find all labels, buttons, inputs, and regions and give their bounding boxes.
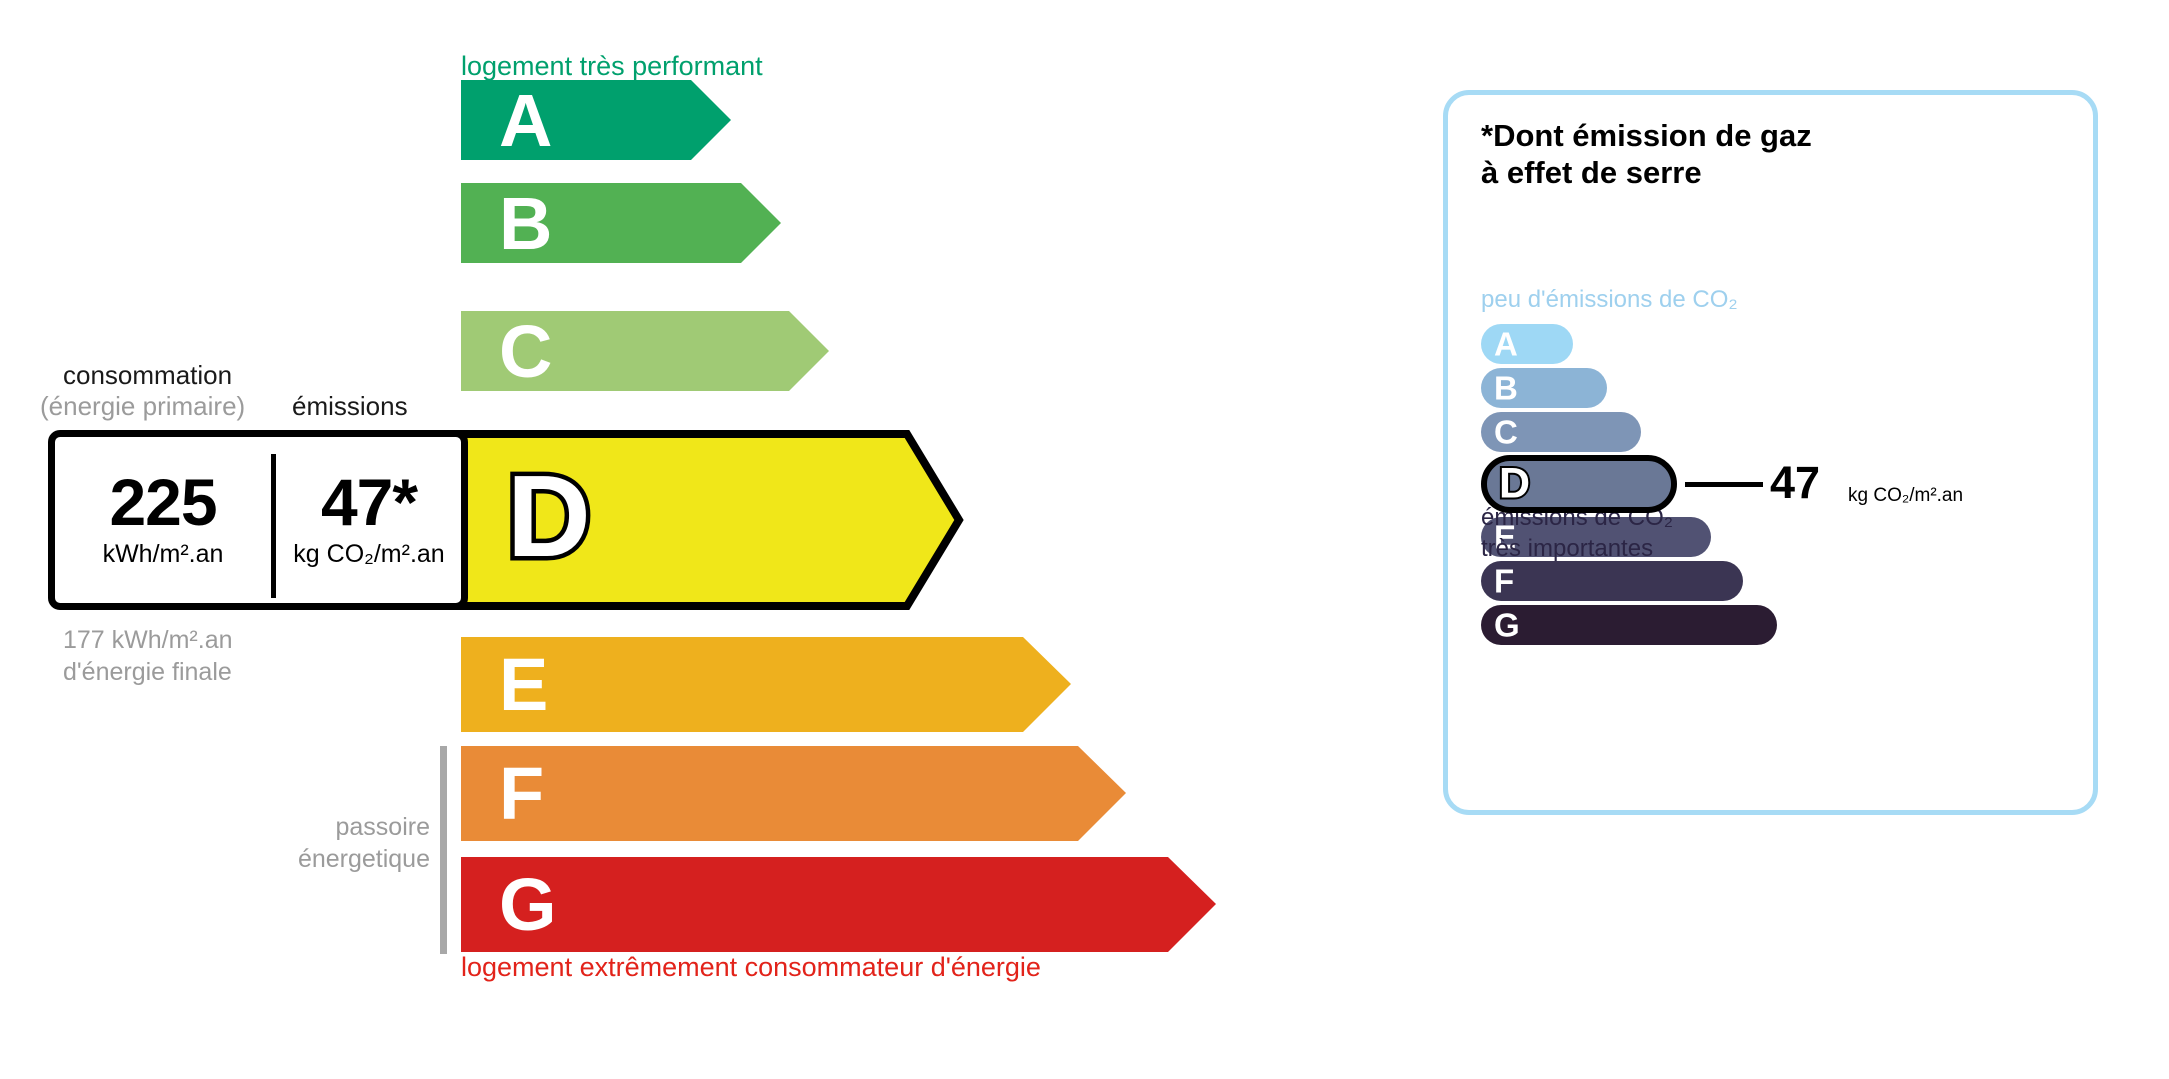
passoire-line-2: énergetique	[180, 843, 430, 875]
co2-bar-b: B	[1481, 368, 1607, 408]
co2-bar-b-letter: B	[1494, 372, 1518, 405]
scale-bottom-label: logement extrêmement consommateur d'éner…	[461, 952, 1041, 983]
consumption-value-box: 225 kWh/m².an 47* kg CO₂/m².an	[48, 430, 468, 610]
energy-scale-diagram: logement très performant A B C D E	[0, 0, 1420, 1079]
passoire-line-1: passoire	[180, 811, 430, 843]
primary-energy-unit: kWh/m².an	[103, 540, 224, 569]
final-energy-note: 177 kWh/m².an d'énergie finale	[63, 624, 233, 688]
final-energy-caption: d'énergie finale	[63, 656, 233, 688]
co2-panel-title: *Dont émission de gaz à effet de serre	[1481, 117, 1812, 191]
energy-bar-c-letter: C	[499, 315, 552, 389]
energy-bar-e-letter: E	[499, 648, 548, 722]
co2-bar-d: D	[1481, 455, 1677, 513]
energy-bar-g-letter: G	[499, 868, 557, 942]
co2-bar-f: F	[1481, 561, 1743, 601]
co2-bar-c-letter: C	[1494, 416, 1518, 449]
energy-bar-a-letter: A	[499, 84, 552, 158]
co2-bottom-line-2: très importantes	[1481, 534, 1673, 565]
co2-bar-a-letter: A	[1494, 328, 1518, 361]
energy-bar-d-letter: D	[507, 451, 591, 581]
label-energie-primaire: (énergie primaire)	[40, 391, 245, 422]
label-emissions: émissions	[292, 391, 408, 422]
co2-bar-a: A	[1481, 324, 1573, 364]
energy-bar-b-letter: B	[499, 187, 552, 261]
emission-value: 47*	[321, 471, 417, 534]
co2-value-unit: kg CO₂/m².an	[1848, 485, 1963, 507]
co2-bar-d-letter: D	[1499, 463, 1530, 506]
final-energy-value: 177 kWh/m².an	[63, 624, 233, 656]
passoire-energetique-label: passoire énergetique	[180, 811, 430, 875]
co2-bar-g: G	[1481, 605, 1777, 645]
emission-cell: 47* kg CO₂/m².an	[276, 437, 462, 603]
co2-leader-line	[1685, 482, 1763, 487]
emission-unit: kg CO₂/m².an	[293, 540, 444, 569]
co2-emissions-panel: *Dont émission de gaz à effet de serre p…	[1443, 90, 2098, 815]
energy-bar-e-shape	[461, 637, 1071, 732]
energy-bar-g-shape	[461, 857, 1216, 952]
co2-value: 47	[1770, 460, 1820, 505]
scale-top-label: logement très performant	[461, 51, 763, 82]
co2-top-label: peu d'émissions de CO₂	[1481, 286, 1738, 314]
primary-energy-value: 225	[109, 471, 216, 534]
label-consommation: consommation	[63, 360, 232, 391]
primary-energy-cell: 225 kWh/m².an	[55, 437, 271, 603]
co2-title-line-2: à effet de serre	[1481, 154, 1812, 191]
passoire-bracket-line	[440, 746, 447, 954]
co2-bar-c: C	[1481, 412, 1641, 452]
co2-bar-g-letter: G	[1494, 609, 1520, 642]
co2-title-line-1: *Dont émission de gaz	[1481, 117, 1812, 154]
energy-bar-f-shape	[461, 746, 1126, 841]
co2-bar-f-letter: F	[1494, 565, 1514, 598]
energy-bar-f-letter: F	[499, 757, 544, 831]
